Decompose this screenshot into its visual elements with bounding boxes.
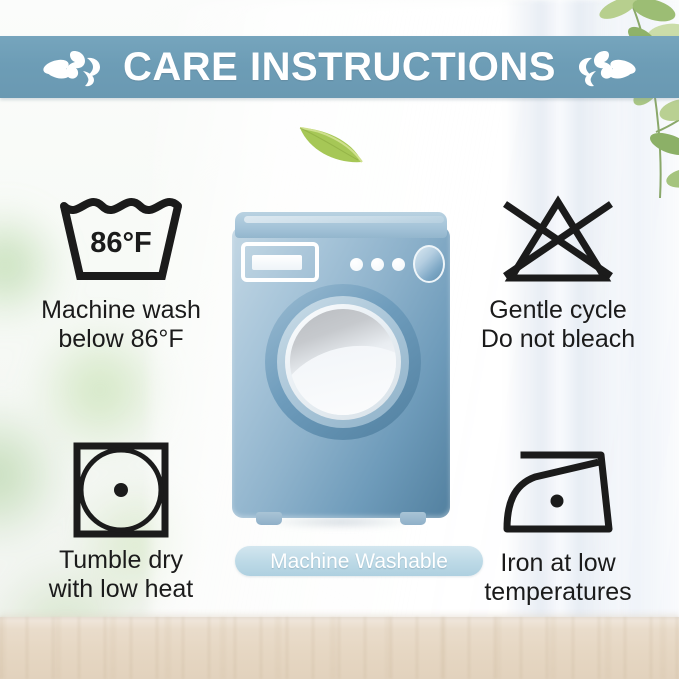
wash-tub-icon: 86°F xyxy=(6,190,236,290)
washer-indicator-light-3 xyxy=(392,258,405,271)
instruction-iron-low: Iron at low temperatures xyxy=(443,443,673,606)
washer-indicator-light-2 xyxy=(371,258,384,271)
washing-machine-illustration xyxy=(232,212,450,530)
instruction-tumble-dry: Tumble dry with low heat xyxy=(6,440,236,603)
washer-top-lid xyxy=(235,212,447,238)
do-not-bleach-triangle-icon xyxy=(443,190,673,290)
instruction-label-tumble-dry: Tumble dry with low heat xyxy=(6,546,236,603)
page-title: CARE INSTRUCTIONS xyxy=(123,47,556,87)
instruction-machine-wash: 86°F Machine wash below 86°F xyxy=(6,190,236,353)
washer-top-highlight xyxy=(244,216,444,223)
machine-washable-badge: Machine Washable xyxy=(235,546,483,576)
washer-foot-right xyxy=(400,512,426,525)
header-banner: CARE INSTRUCTIONS xyxy=(0,36,679,98)
washer-foot-left xyxy=(256,512,282,525)
iron-low-heat-icon xyxy=(443,443,673,543)
fleur-de-lis-ornament-left-icon xyxy=(43,45,105,89)
fleur-de-lis-ornament-right-icon xyxy=(574,45,636,89)
instruction-gentle-cycle-no-bleach: Gentle cycle Do not bleach xyxy=(443,190,673,353)
washer-display-screen xyxy=(252,255,302,270)
wooden-table-surface xyxy=(0,617,679,679)
tumble-dry-low-icon xyxy=(6,440,236,540)
instruction-label-gentle-cycle: Gentle cycle Do not bleach xyxy=(443,296,673,353)
machine-washable-badge-label: Machine Washable xyxy=(270,551,448,572)
washer-indicator-light-1 xyxy=(350,258,363,271)
washer-door-glass xyxy=(290,309,396,415)
wash-temperature-value: 86°F xyxy=(90,227,152,259)
instruction-label-machine-wash: Machine wash below 86°F xyxy=(6,296,236,353)
care-instructions-infographic: CARE INSTRUCTIONS 86°F Machine wash belo… xyxy=(0,0,679,679)
washer-program-knob xyxy=(413,245,445,283)
